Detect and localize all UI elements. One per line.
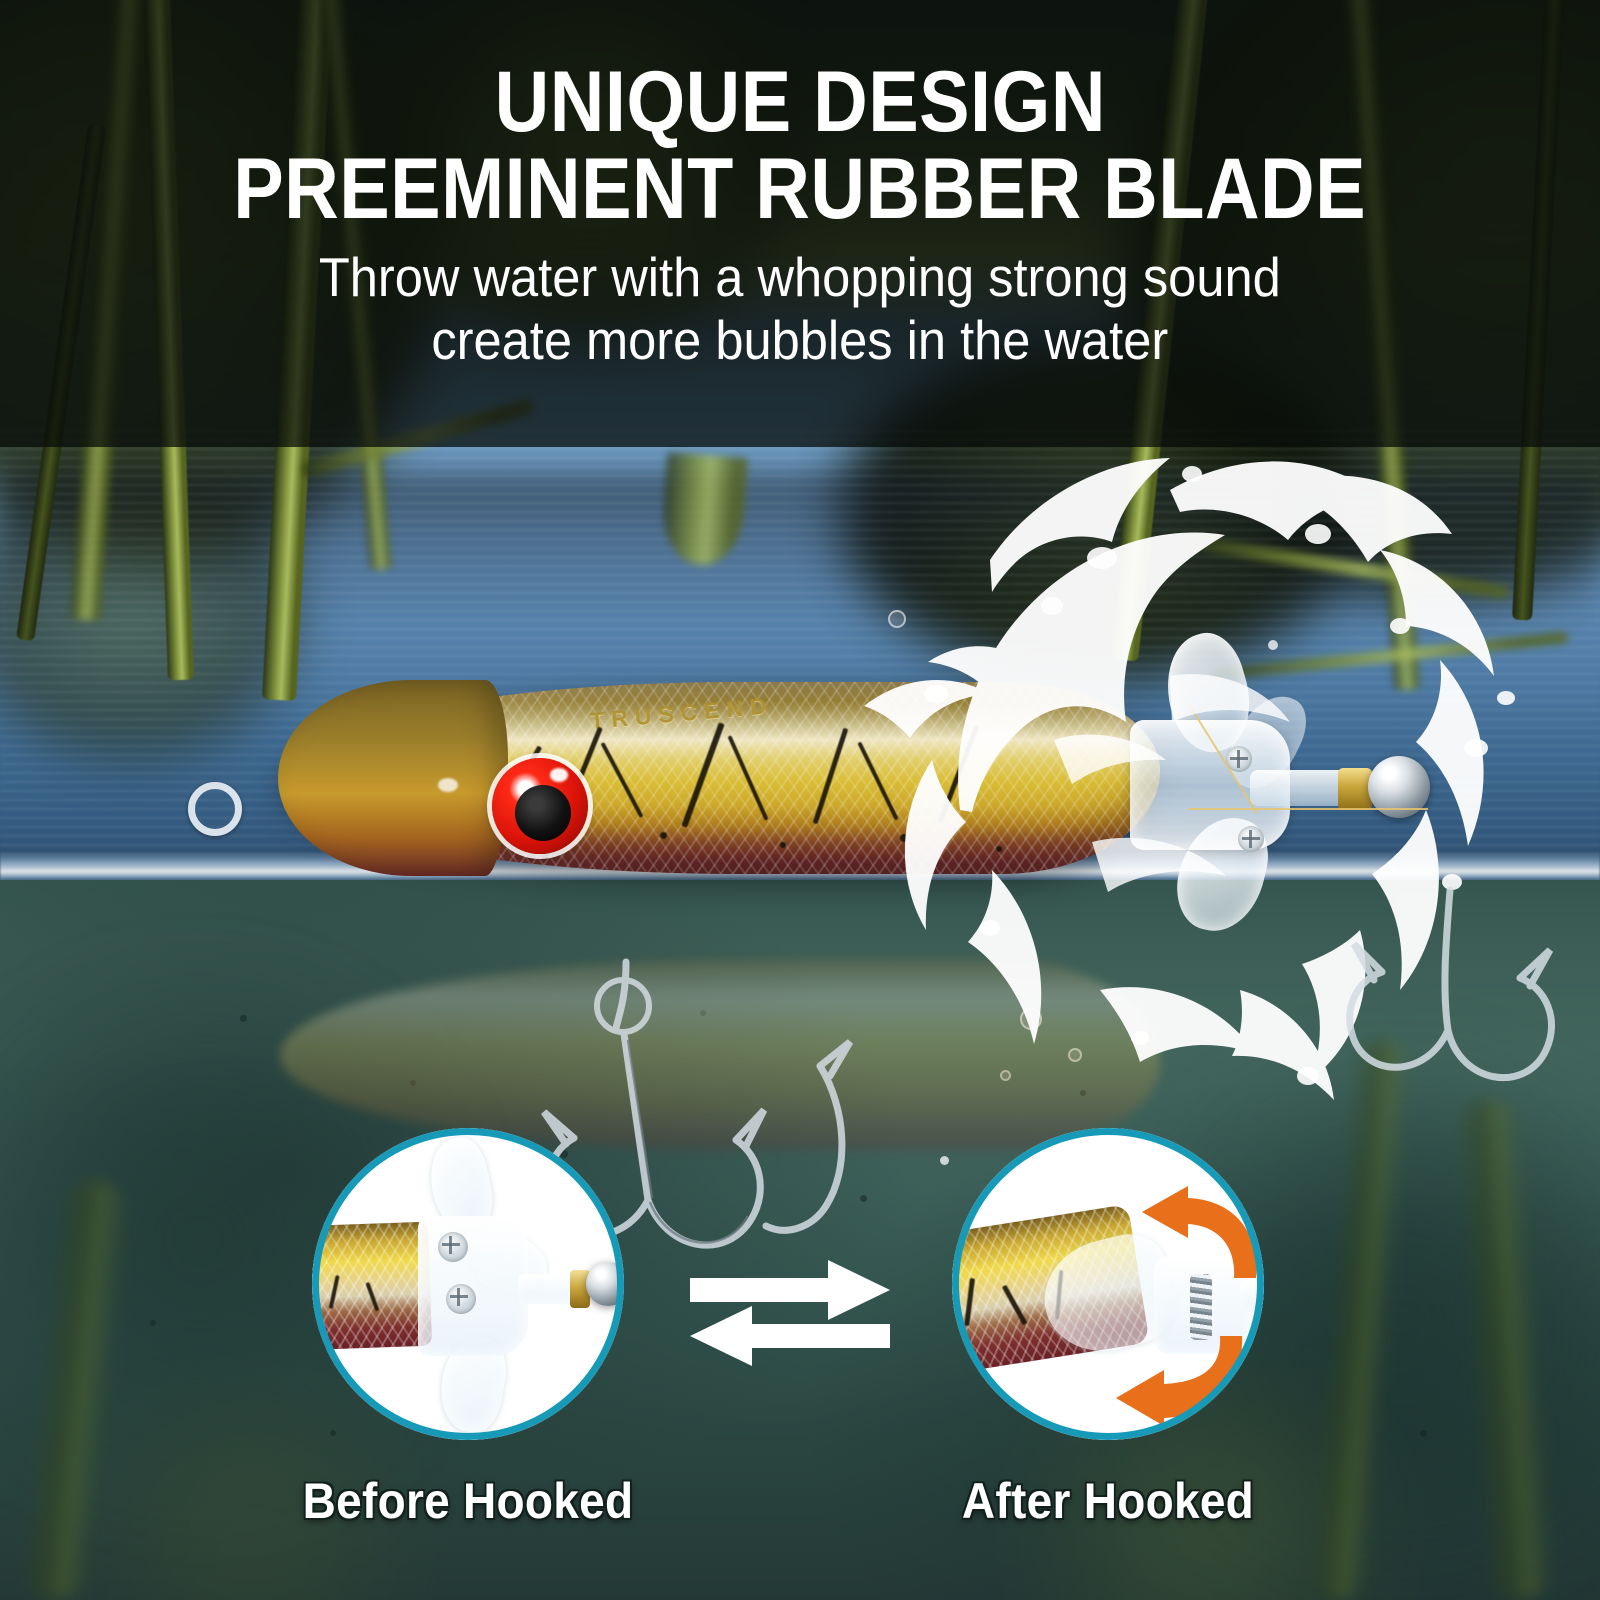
treble-hook-tail <box>1330 880 1590 1180</box>
nose-split-ring <box>188 782 242 836</box>
callout-before-hooked <box>312 1128 624 1440</box>
lure-eye-glint <box>550 768 568 782</box>
callout-lure-body <box>312 1222 432 1351</box>
callout-lure-scales <box>312 1222 432 1351</box>
water-particle <box>410 1080 416 1086</box>
water-droplet <box>940 1156 949 1165</box>
rotation-arrow-top <box>1128 1186 1264 1282</box>
callout-screw-lower <box>446 1284 476 1314</box>
headline-line-1: UNIQUE DESIGN <box>494 61 1105 144</box>
caption-after-hooked: After Hooked <box>907 1472 1308 1530</box>
callout-ball-bearing <box>586 1262 624 1306</box>
callout-spring <box>1190 1274 1212 1340</box>
header-overlay-band: UNIQUE DESIGN PREEMINENT RUBBER BLADE Th… <box>0 0 1600 447</box>
subheadline-line-2: create more bubbles in the water <box>319 309 1281 372</box>
water-particle <box>330 1430 336 1436</box>
water-particle <box>1420 1430 1427 1437</box>
bidirectional-arrows-icon <box>690 1258 890 1370</box>
lure-marking <box>660 832 667 839</box>
callout-after-hooked <box>952 1128 1264 1440</box>
callout-propeller-hub <box>418 1216 528 1356</box>
callout-tail-shaft <box>1240 1280 1264 1312</box>
lure-eye-pupil <box>515 785 571 841</box>
callout-screw-upper <box>438 1232 468 1262</box>
headline-line-2: PREEMINENT RUBBER BLADE <box>234 148 1367 231</box>
rotation-arrow-bottom <box>1100 1332 1248 1426</box>
water-particle <box>240 1015 247 1022</box>
water-particle <box>150 1320 156 1326</box>
lure-nostril <box>438 778 458 792</box>
lure-marking <box>780 842 786 848</box>
subheadline: Throw water with a whopping strong sound… <box>319 246 1281 371</box>
product-feature-poster: TRUSCEND <box>0 0 1600 1600</box>
subheadline-line-1: Throw water with a whopping strong sound <box>319 246 1281 309</box>
caption-before-hooked: Before Hooked <box>267 1472 668 1530</box>
